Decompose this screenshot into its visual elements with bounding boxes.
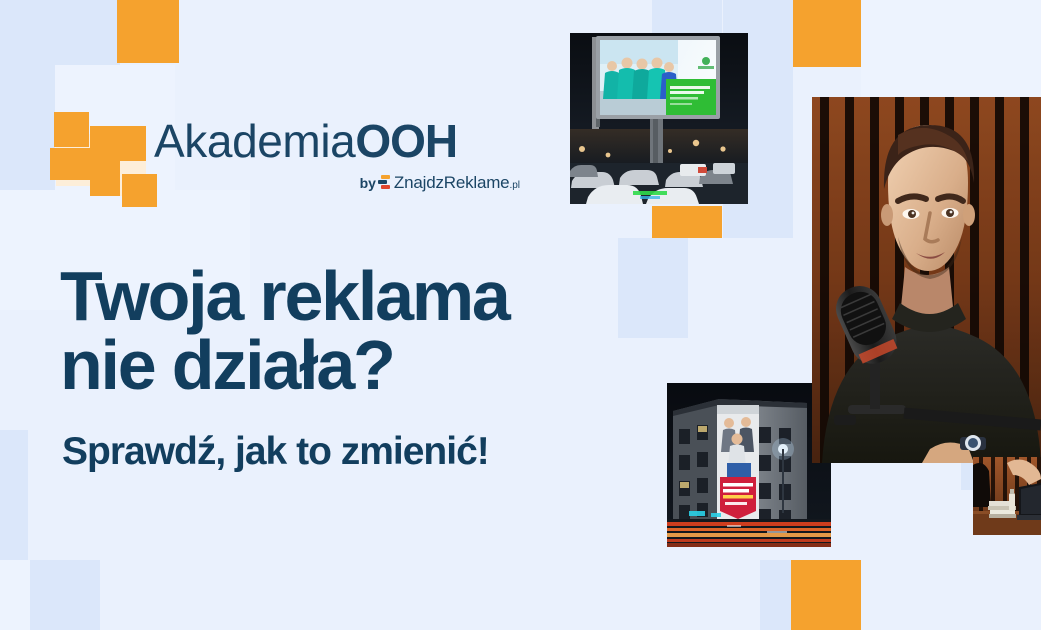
night-billboard-medical-staff-photo (570, 33, 748, 204)
deco-square-bottom-mid (760, 560, 792, 630)
deco-square-left-lower (0, 430, 28, 570)
hero-headline-line2: nie działa? (60, 331, 620, 400)
logo-square-orange-5 (122, 174, 157, 207)
deco-square-orange-middle (652, 206, 722, 238)
hero-headline-line1: Twoja reklama (60, 262, 620, 331)
byline-by-word: by (360, 175, 376, 191)
promo-banner: AkademiaOOH byZnajdzReklame.pl Twoja rek… (0, 0, 1041, 630)
deco-square-bottom-left (30, 560, 100, 630)
deco-square-orange-bottom (791, 560, 861, 630)
zr-mark-bar-navy-mid (378, 180, 387, 184)
deco-square-top-center (652, 0, 722, 36)
partner-name: ZnajdzReklame (394, 173, 510, 192)
logo-square-orange-1 (54, 112, 89, 147)
brand-wordmark: AkademiaOOH (154, 117, 457, 165)
hero-headline: Twoja reklama nie działa? (60, 262, 620, 399)
podcast-host-at-microphone-photo (812, 97, 1041, 463)
deco-square-right-upper (861, 0, 1041, 100)
partner-tld: .pl (509, 180, 520, 191)
brand-logo[interactable]: AkademiaOOH byZnajdzReklame.pl (50, 112, 480, 217)
deco-square-center-mid (618, 308, 688, 338)
deco-square-orange-top (117, 0, 179, 63)
brand-name-bold: OOH (355, 115, 457, 167)
brand-name-light: Akademia (154, 115, 355, 167)
studio-desk-books-laptop-photo (973, 457, 1041, 535)
brand-byline: byZnajdzReklame.pl (154, 173, 520, 193)
akademiaooh-logo-mark (50, 112, 142, 202)
znajdzreklame-mark (378, 175, 391, 190)
hero-subheadline: Sprawdź, jak to zmienić! (62, 430, 622, 474)
building-facade-mural-advertisement-photo (667, 383, 831, 547)
logo-square-orange-4 (90, 126, 120, 196)
deco-square-center-left (618, 238, 688, 308)
zr-mark-bar-red-bottom (381, 185, 390, 189)
zr-mark-bar-orange-top (381, 175, 390, 179)
deco-square-bottom-left-pale (0, 560, 30, 630)
